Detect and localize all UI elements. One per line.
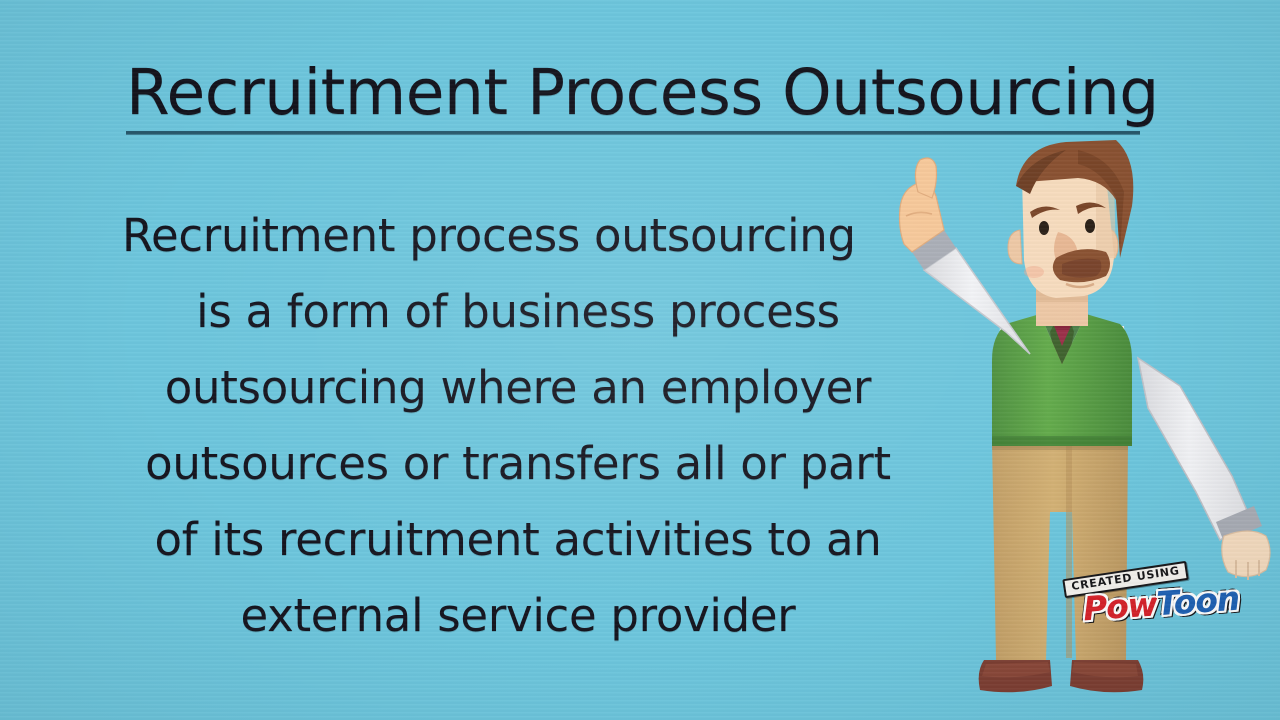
slide-title-block: Recruitment Process Outsourcing [126, 58, 1142, 135]
body-line: is a form of business process [108, 274, 928, 350]
body-line: outsources or transfers all or part [108, 426, 928, 502]
powtoon-watermark: CREATED USING PowToon [1057, 566, 1257, 636]
body-line: outsourcing where an employer [108, 350, 928, 426]
right-arm [1138, 358, 1270, 580]
body-line: of its recruitment activities to an [108, 502, 928, 578]
page-title: Recruitment Process Outsourcing [126, 58, 1142, 128]
slide-body-text: Recruitment process outsourcing is a for… [108, 198, 928, 654]
body-line: external service provider [108, 578, 928, 654]
powtoon-logo-toon: Toon [1155, 579, 1240, 624]
body-line: Recruitment process outsourcing [108, 198, 928, 274]
powtoon-logo-pow: Pow [1082, 584, 1158, 628]
title-underline-rule [126, 131, 1140, 135]
powtoon-logo: PowToon [1082, 581, 1240, 628]
shoes [979, 660, 1144, 692]
powtoon-slide: Recruitment Process Outsourcing Recruitm… [0, 0, 1280, 720]
